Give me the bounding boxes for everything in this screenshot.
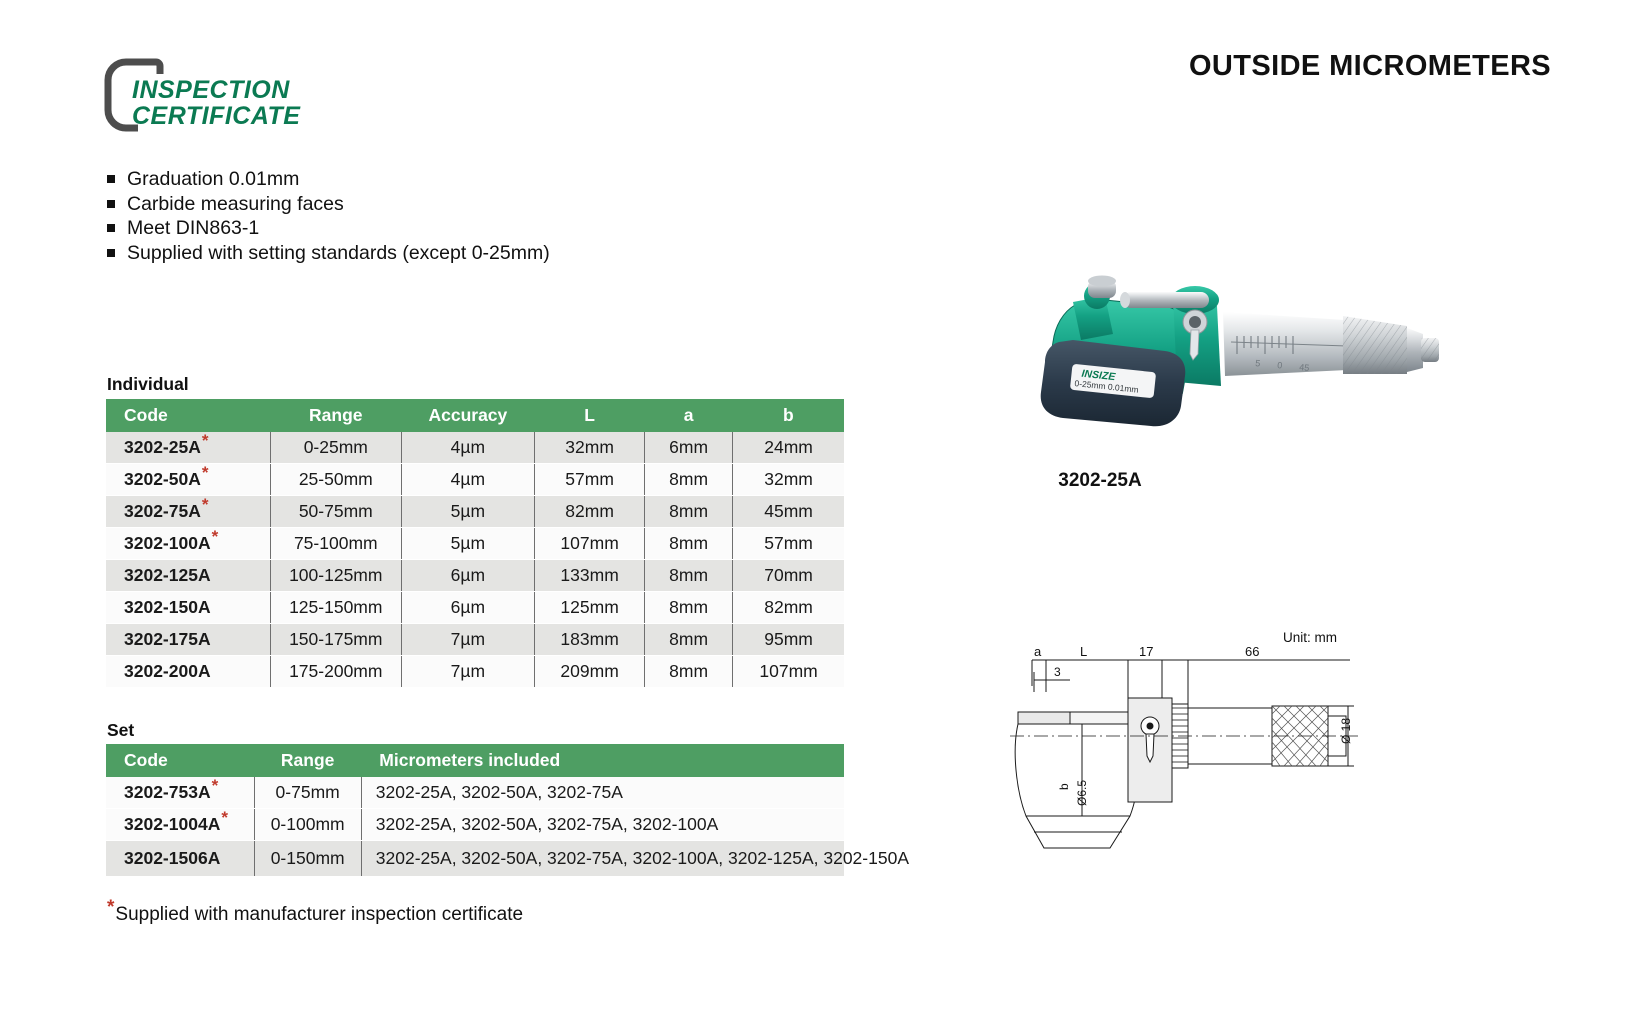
list-item: Supplied with setting standards (except … xyxy=(107,244,727,263)
cell-code: 3202-1004A* xyxy=(106,809,254,841)
sleeve-scale: 5 0 45 xyxy=(1223,312,1347,376)
footnote: *Supplied with manufacturer inspection c… xyxy=(106,904,523,926)
cell-b: 70mm xyxy=(733,560,844,592)
cell-accuracy: 7µm xyxy=(401,656,534,688)
dim-66: 66 xyxy=(1245,644,1259,659)
dim-thimble: Ø 18 xyxy=(1339,718,1353,744)
cell-code: 3202-125A xyxy=(106,560,270,592)
cell-l: 209mm xyxy=(535,656,645,688)
cell-range: 150-175mm xyxy=(270,624,401,656)
list-item: Meet DIN863-1 xyxy=(107,219,727,238)
table-row: 3202-50A* 25-50mm 4µm 57mm 8mm 32mm xyxy=(106,464,844,496)
cell-code: 3202-1506A xyxy=(106,841,254,877)
cell-range: 0-150mm xyxy=(254,841,361,877)
dim-b: b xyxy=(1057,783,1071,790)
cell-b: 57mm xyxy=(733,528,844,560)
cell-a: 8mm xyxy=(645,560,733,592)
table-header-row: Code Range Micrometers included xyxy=(106,744,844,777)
cell-range: 50-75mm xyxy=(270,496,401,528)
list-item: Carbide measuring faces xyxy=(107,195,727,214)
column-header-code: Code xyxy=(106,399,270,432)
cell-accuracy: 5µm xyxy=(401,528,534,560)
table-row: 3202-175A 150-175mm 7µm 183mm 8mm 95mm xyxy=(106,624,844,656)
column-header-range: Range xyxy=(254,744,361,777)
cell-l: 57mm xyxy=(535,464,645,496)
column-header-range: Range xyxy=(270,399,401,432)
cell-l: 107mm xyxy=(535,528,645,560)
anvil xyxy=(1088,276,1116,299)
cell-accuracy: 7µm xyxy=(401,624,534,656)
set-table-label: Set xyxy=(107,720,134,741)
cell-accuracy: 4µm xyxy=(401,432,534,464)
cell-range: 0-100mm xyxy=(254,809,361,841)
cell-a: 8mm xyxy=(645,496,733,528)
code-value: 3202-753A xyxy=(124,782,211,802)
cell-code: 3202-753A* xyxy=(106,777,254,809)
footnote-text: Supplied with manufacturer inspection ce… xyxy=(115,904,523,925)
cell-a: 8mm xyxy=(645,528,733,560)
cell-b: 32mm xyxy=(733,464,844,496)
feature-text: Meet DIN863-1 xyxy=(127,219,259,238)
cell-b: 45mm xyxy=(733,496,844,528)
cell-a: 6mm xyxy=(645,432,733,464)
table-row: 3202-1506A 0-150mm 3202-25A, 3202-50A, 3… xyxy=(106,841,844,877)
svg-text:CERTIFICATE: CERTIFICATE xyxy=(132,102,301,130)
cell-code: 3202-150A xyxy=(106,592,270,624)
cell-range: 0-75mm xyxy=(254,777,361,809)
technical-drawing: a L 3 17 66 b Ø6.5 Ø 18 xyxy=(1010,620,1360,880)
cell-code: 3202-25A* xyxy=(106,432,270,464)
square-bullet-icon xyxy=(107,175,115,183)
cell-b: 107mm xyxy=(733,656,844,688)
individual-table-label: Individual xyxy=(107,374,189,395)
code-value: 3202-25A xyxy=(124,437,201,457)
product-photo: 5 0 45 INSIZE 0-25mm 0.01mm xyxy=(955,250,1455,450)
cell-l: 82mm xyxy=(535,496,645,528)
cell-b: 82mm xyxy=(733,592,844,624)
cell-b: 95mm xyxy=(733,624,844,656)
table-row: 3202-150A 125-150mm 6µm 125mm 8mm 82mm xyxy=(106,592,844,624)
cell-code: 3202-50A* xyxy=(106,464,270,496)
cell-range: 25-50mm xyxy=(270,464,401,496)
svg-text:45: 45 xyxy=(1299,362,1310,373)
code-value: 3202-75A xyxy=(124,501,201,521)
asterisk-icon: * xyxy=(202,431,209,450)
table-row: 3202-200A 175-200mm 7µm 209mm 8mm 107mm xyxy=(106,656,844,688)
inspection-certificate-logo: INSPECTION CERTIFICATE INSPECTION CERTIF… xyxy=(104,58,404,130)
cell-range: 175-200mm xyxy=(270,656,401,688)
code-value: 3202-50A xyxy=(124,469,201,489)
cell-l: 32mm xyxy=(535,432,645,464)
svg-text:5: 5 xyxy=(1255,358,1261,368)
table-row: 3202-100A* 75-100mm 5µm 107mm 8mm 57mm xyxy=(106,528,844,560)
table-row: 3202-25A* 0-25mm 4µm 32mm 6mm 24mm xyxy=(106,432,844,464)
thimble xyxy=(1343,316,1423,374)
svg-text:INSPECTION: INSPECTION xyxy=(132,76,290,104)
asterisk-icon: * xyxy=(107,897,114,918)
individual-table: Code Range Accuracy L a b 3202-25A* 0-25… xyxy=(106,399,844,688)
dimension-drawing: a L 3 17 66 b Ø6.5 Ø 18 xyxy=(1010,620,1360,880)
column-header-included: Micrometers included xyxy=(361,744,844,777)
table-row: 3202-75A* 50-75mm 5µm 82mm 8mm 45mm xyxy=(106,496,844,528)
set-table: Code Range Micrometers included 3202-753… xyxy=(106,744,844,877)
dim-bore: Ø6.5 xyxy=(1075,780,1089,806)
square-bullet-icon xyxy=(107,200,115,208)
cell-a: 8mm xyxy=(645,656,733,688)
table-row: 3202-753A* 0-75mm 3202-25A, 3202-50A, 32… xyxy=(106,777,844,809)
column-header-b: b xyxy=(733,399,844,432)
cell-included: 3202-25A, 3202-50A, 3202-75A xyxy=(361,777,844,809)
dim-a: a xyxy=(1034,644,1042,659)
cell-range: 75-100mm xyxy=(270,528,401,560)
cell-included: 3202-25A, 3202-50A, 3202-75A, 3202-100A,… xyxy=(361,841,844,877)
spindle xyxy=(1120,292,1209,308)
logo-text: INSPECTION CERTIFICATE xyxy=(132,76,301,130)
ratchet-stop xyxy=(1421,338,1439,362)
table-header-row: Code Range Accuracy L a b xyxy=(106,399,844,432)
code-value: 3202-1004A xyxy=(124,814,220,834)
asterisk-icon: * xyxy=(202,495,209,514)
list-item: Graduation 0.01mm xyxy=(107,170,727,189)
cell-l: 183mm xyxy=(535,624,645,656)
table-row: 3202-125A 100-125mm 6µm 133mm 8mm 70mm xyxy=(106,560,844,592)
cell-a: 8mm xyxy=(645,624,733,656)
micrometer-illustration: 5 0 45 INSIZE 0-25mm 0.01mm xyxy=(955,250,1455,450)
cell-range: 0-25mm xyxy=(270,432,401,464)
cell-accuracy: 6µm xyxy=(401,560,534,592)
cell-accuracy: 5µm xyxy=(401,496,534,528)
cell-b: 24mm xyxy=(733,432,844,464)
cell-code: 3202-200A xyxy=(106,656,270,688)
dim-L: L xyxy=(1080,644,1087,659)
product-caption: 3202-25A xyxy=(955,470,1245,492)
feature-text: Graduation 0.01mm xyxy=(127,170,299,189)
feature-text: Supplied with setting standards (except … xyxy=(127,244,550,263)
page-title: OUTSIDE MICROMETERS xyxy=(1140,50,1600,83)
column-header-code: Code xyxy=(106,744,254,777)
square-bullet-icon xyxy=(107,224,115,232)
table-row: 3202-1004A* 0-100mm 3202-25A, 3202-50A, … xyxy=(106,809,844,841)
feature-list: Graduation 0.01mm Carbide measuring face… xyxy=(107,170,727,268)
cell-a: 8mm xyxy=(645,592,733,624)
cell-l: 133mm xyxy=(535,560,645,592)
column-header-a: a xyxy=(645,399,733,432)
svg-text:0: 0 xyxy=(1277,360,1283,370)
cell-range: 100-125mm xyxy=(270,560,401,592)
cell-included: 3202-25A, 3202-50A, 3202-75A, 3202-100A xyxy=(361,809,844,841)
cell-code: 3202-100A* xyxy=(106,528,270,560)
cell-code: 3202-75A* xyxy=(106,496,270,528)
catalog-page: OUTSIDE MICROMETERS INSPECTION CERTIFICA… xyxy=(0,0,1646,1013)
cell-accuracy: 4µm xyxy=(401,464,534,496)
logo-graphic: INSPECTION CERTIFICATE xyxy=(104,58,404,133)
asterisk-icon: * xyxy=(221,808,228,827)
dim-3: 3 xyxy=(1054,665,1061,679)
dim-17: 17 xyxy=(1139,644,1153,659)
asterisk-icon: * xyxy=(212,776,219,795)
column-header-accuracy: Accuracy xyxy=(401,399,534,432)
cell-accuracy: 6µm xyxy=(401,592,534,624)
cell-a: 8mm xyxy=(645,464,733,496)
cell-code: 3202-175A xyxy=(106,624,270,656)
square-bullet-icon xyxy=(107,249,115,257)
asterisk-icon: * xyxy=(212,527,219,546)
code-value: 3202-100A xyxy=(124,533,211,553)
asterisk-icon: * xyxy=(202,463,209,482)
feature-text: Carbide measuring faces xyxy=(127,195,344,214)
cell-range: 125-150mm xyxy=(270,592,401,624)
column-header-l: L xyxy=(535,399,645,432)
cell-l: 125mm xyxy=(535,592,645,624)
